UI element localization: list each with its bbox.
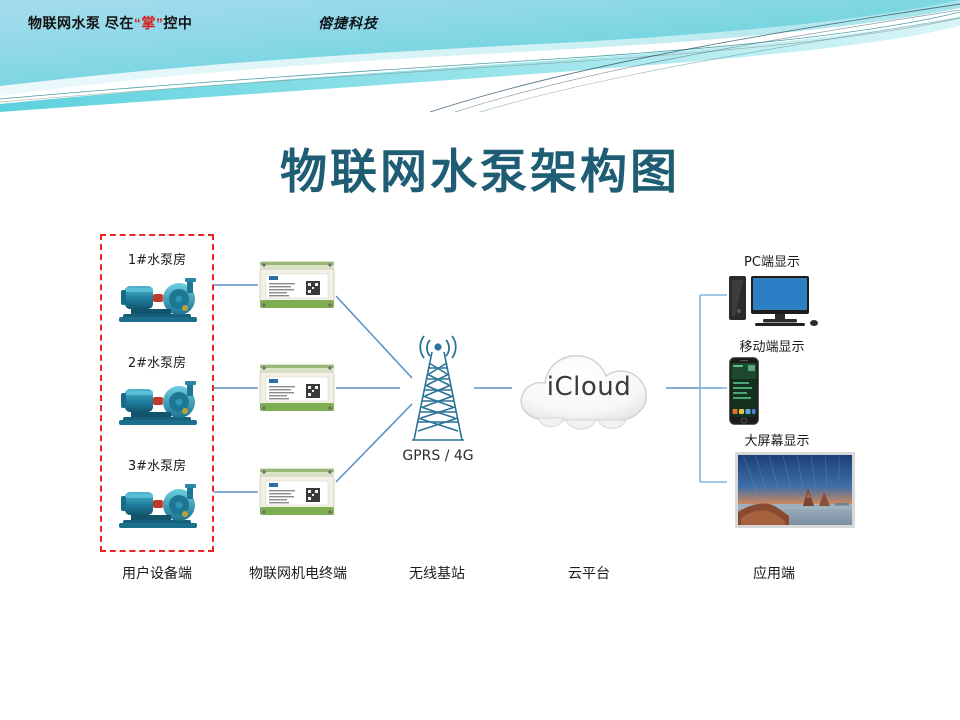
slogan-part-1: 物联网水泵 尽在: [28, 15, 134, 31]
display-label-pc: PC端显示: [702, 251, 842, 270]
pump-label-3: 3#水泵房: [100, 455, 214, 474]
desktop-computer-icon: [727, 272, 819, 330]
large-screen-icon: [735, 452, 855, 528]
water-pump-icon-2: [113, 375, 205, 431]
slogan-part-2: 控中: [163, 15, 192, 31]
pump-label-2: 2#水泵房: [100, 352, 214, 371]
column-label-base-station: 无线基站: [370, 563, 504, 583]
slogan-highlight: “掌”: [134, 15, 164, 31]
smartphone-icon: [729, 357, 759, 425]
water-pump-icon-1: [113, 272, 205, 328]
column-label-application: 应用端: [710, 563, 838, 583]
water-pump-icon-3: [113, 478, 205, 534]
cloud-label: iCloud: [508, 372, 670, 402]
iot-terminal-icon-3: [258, 466, 336, 518]
column-label-iot-terminal: 物联网机电终端: [220, 563, 376, 583]
iot-terminal-icon-2: [258, 362, 336, 414]
display-label-bigscreen: 大屏幕显示: [692, 430, 862, 449]
cell-tower-icon: [388, 330, 488, 445]
iot-terminal-icon-1: [258, 259, 336, 311]
tower-label: GPRS / 4G: [368, 448, 508, 464]
architecture-diagram: 1#水泵房 2#水泵房: [0, 0, 960, 720]
company-brand-name: 傛捷科技: [318, 13, 378, 33]
column-label-user-equipment: 用户设备端: [95, 563, 219, 583]
pump-label-1: 1#水泵房: [100, 249, 214, 268]
display-label-mobile: 移动端显示: [692, 336, 852, 355]
header-slogan: 物联网水泵 尽在“掌”控中: [28, 13, 192, 33]
column-label-cloud-platform: 云平台: [520, 563, 658, 583]
